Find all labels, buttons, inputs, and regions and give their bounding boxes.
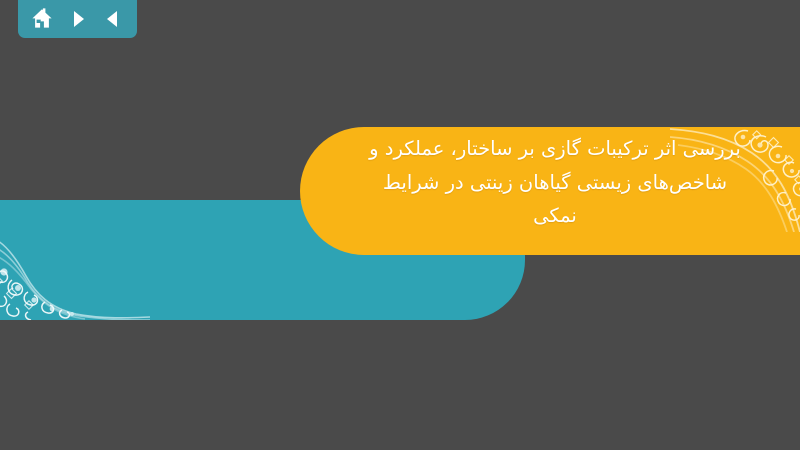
title-line-2: شاخص‌های زیستی گیاهان زینتی در شرایط (312, 166, 798, 200)
home-icon (30, 7, 54, 31)
navigation-bar (18, 0, 137, 38)
title-line-3: نمکی (312, 199, 798, 233)
slide-title: بررسی اثر ترکیبات گازی بر ساختار، عملکرد… (312, 132, 798, 233)
presentation-slide: بررسی اثر ترکیبات گازی بر ساختار، عملکرد… (0, 0, 800, 450)
forward-icon (67, 8, 89, 30)
forward-button[interactable] (63, 4, 93, 34)
arabesque-ornament-icon (0, 230, 150, 320)
back-button[interactable] (98, 4, 128, 34)
back-icon (102, 8, 124, 30)
title-line-1: بررسی اثر ترکیبات گازی بر ساختار، عملکرد… (312, 132, 798, 166)
home-button[interactable] (27, 4, 57, 34)
